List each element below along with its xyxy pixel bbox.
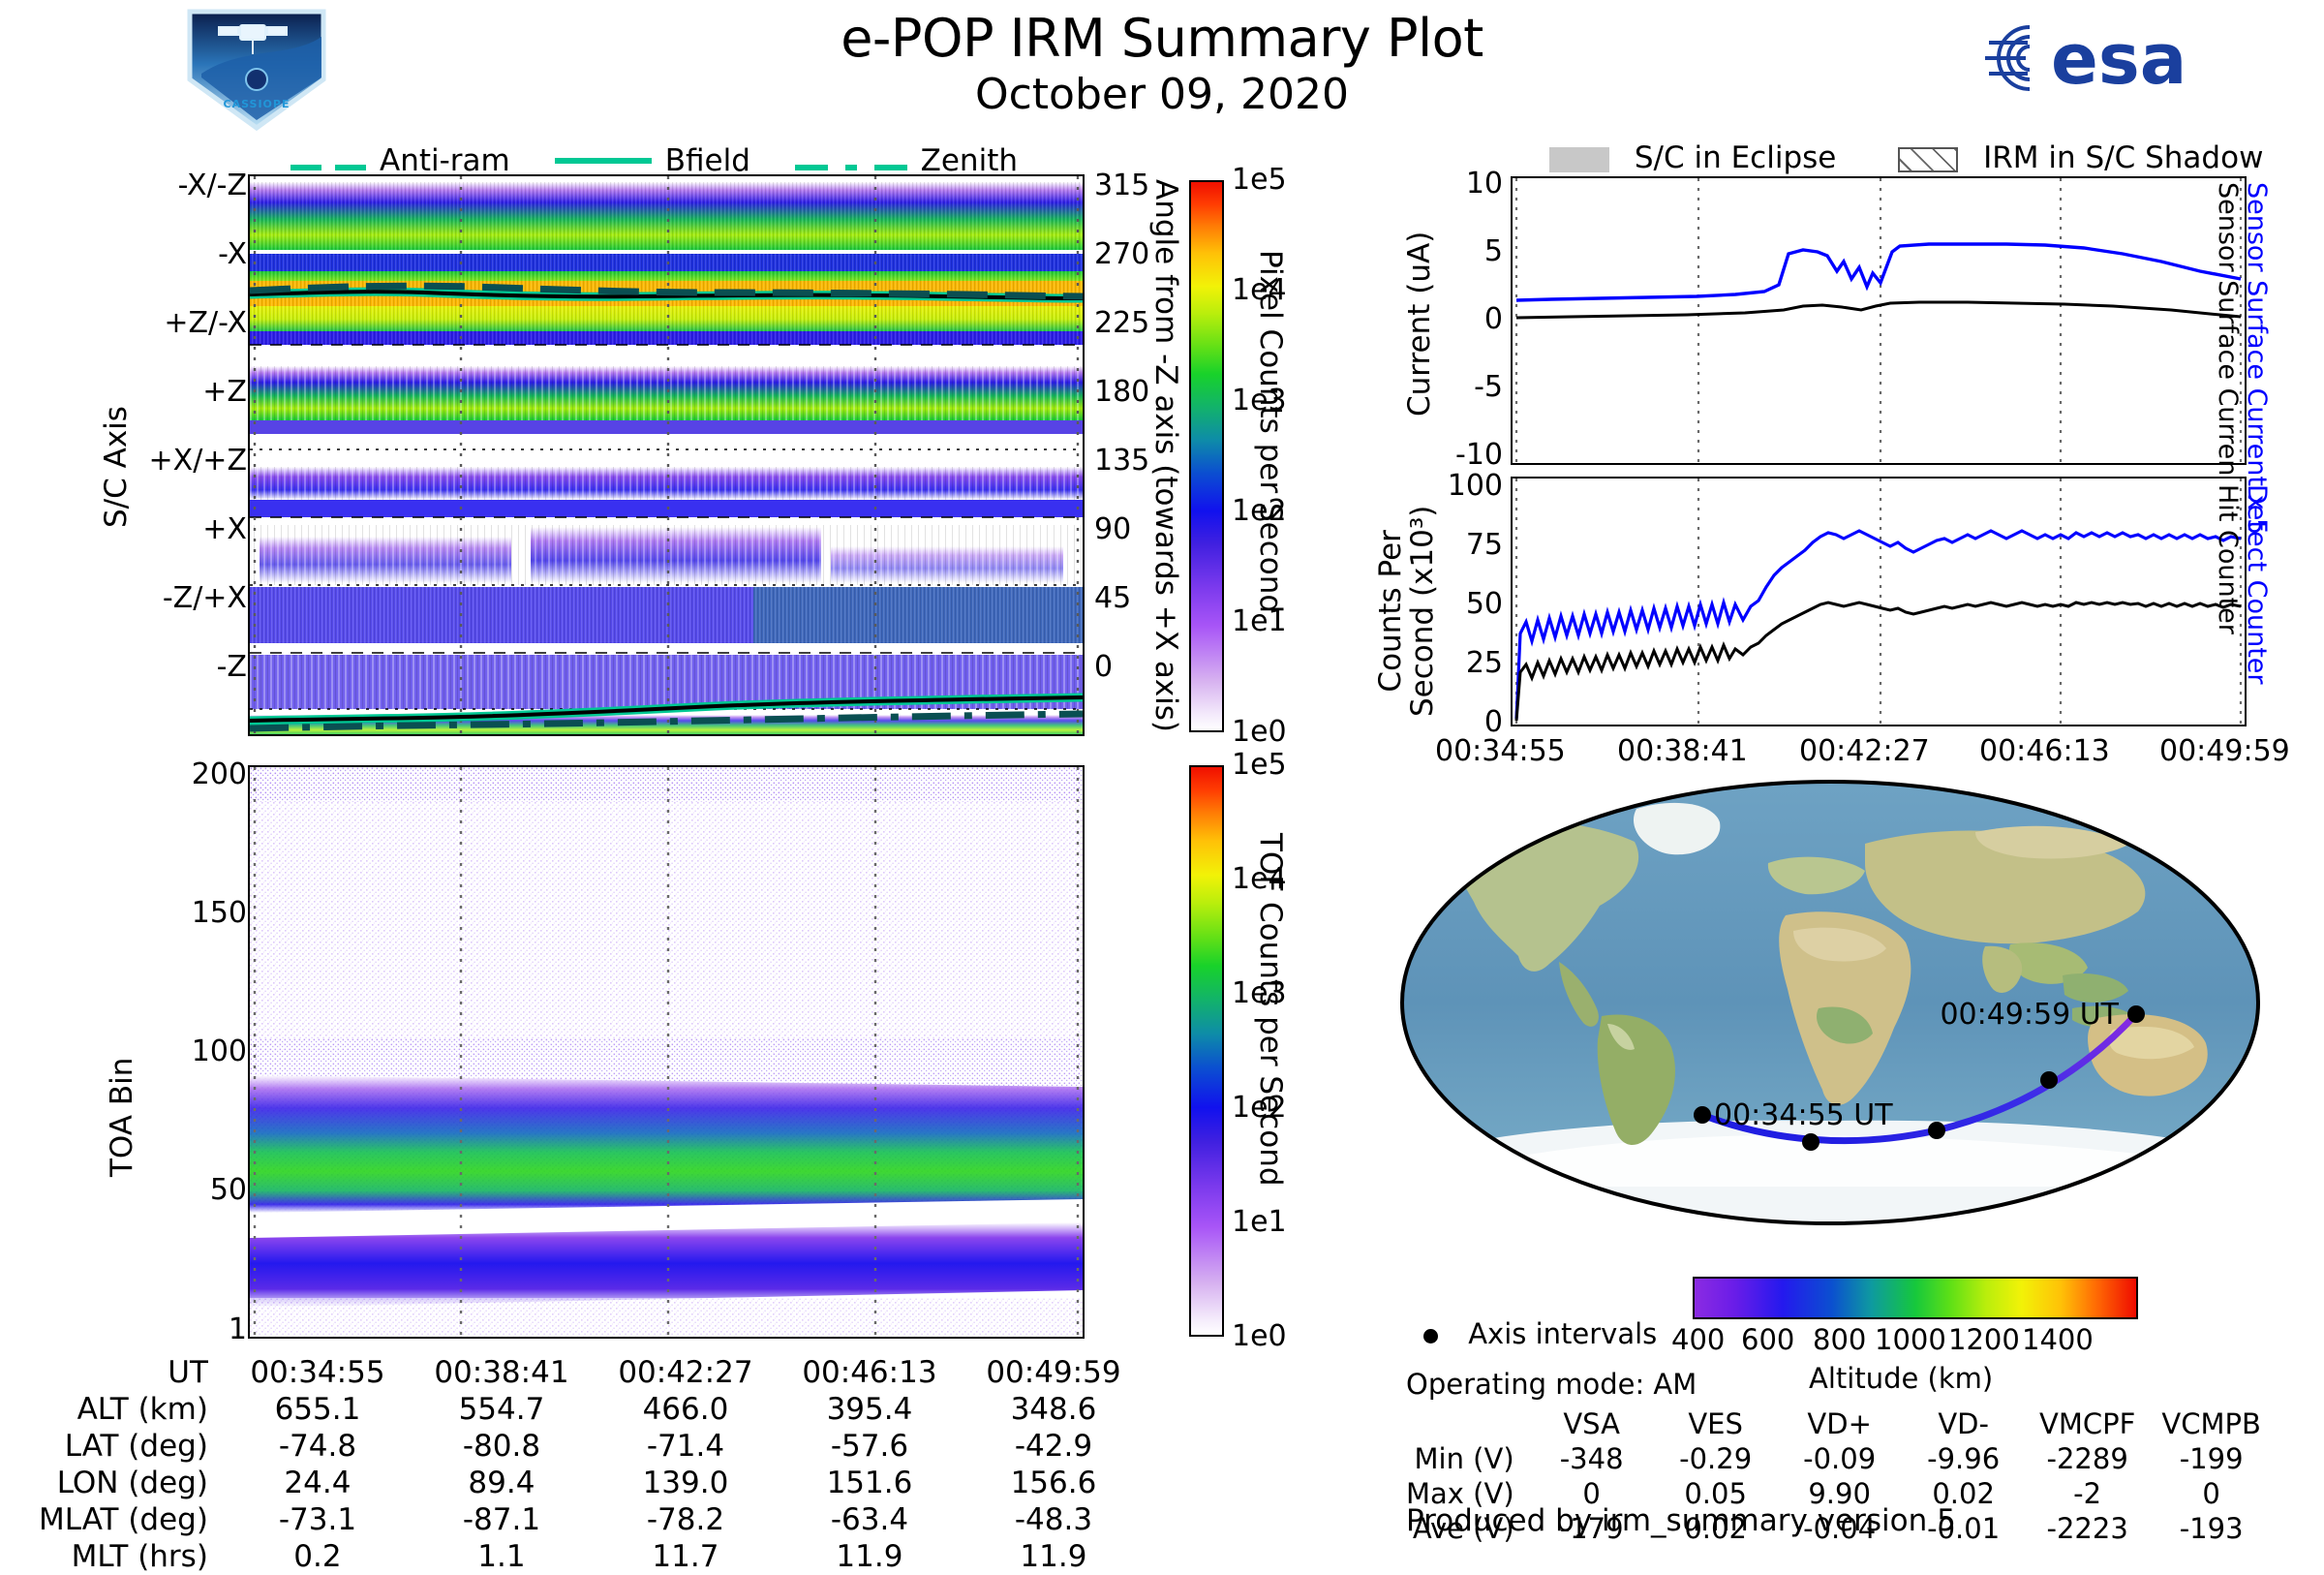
- lat-value-3: -57.6: [778, 1428, 962, 1465]
- esa-wordmark: esa: [2051, 18, 2186, 100]
- sc-axis-spectrogram[interactable]: [248, 174, 1085, 736]
- legend-bfield-swatch: [555, 158, 652, 164]
- cassiope-mission-patch-icon: CASSIOPE: [184, 8, 329, 132]
- sc-axis-angle-tick-0: 315: [1094, 169, 1149, 202]
- axis-interval-marker-icon: [1423, 1329, 1438, 1343]
- row-label-mlt: MLT (hrs): [39, 1538, 226, 1575]
- voltage-col-vdm: VD-: [1902, 1406, 2026, 1441]
- lon-value-0: 24.4: [226, 1465, 410, 1501]
- track-end-label: 00:49:59 UT: [1940, 998, 2119, 1032]
- counts-xtick-0: 00:34:55: [1435, 734, 1566, 768]
- irm-shadow-swatch: [1898, 147, 1958, 172]
- row-label-alt: ALT (km): [39, 1391, 226, 1428]
- tof-cbar-tick-4: 1e1: [1232, 1205, 1287, 1239]
- altitude-tick-1: 600: [1741, 1323, 1794, 1356]
- orbit-ground-track-map[interactable]: 00:34:55 UT 00:49:59 UT: [1394, 770, 2266, 1235]
- alt-value-4: 348.6: [962, 1391, 1146, 1428]
- sc-axis-ylabel: S/C Axis: [99, 406, 134, 528]
- tof-cbar-tick-5: 1e0: [1232, 1319, 1287, 1353]
- lon-value-3: 151.6: [778, 1465, 962, 1501]
- pixel-cbar-tick-0: 1e5: [1232, 163, 1287, 197]
- altitude-colorbar-ticks: 400 600 800 1000 1200 1400: [1693, 1323, 2138, 1362]
- current-ytick-group: 10 5 0 -5 -10: [1423, 184, 1503, 455]
- alt-value-2: 466.0: [594, 1391, 778, 1428]
- toa-ytick-4: 1: [229, 1312, 247, 1346]
- toa-ytick-group: 200 150 100 50 1: [145, 775, 247, 1337]
- toa-ytick-2: 100: [192, 1035, 247, 1068]
- sc-axis-angle-tick-2: 225: [1094, 306, 1149, 340]
- altitude-colorbar-label: Altitude (km): [1809, 1362, 1993, 1395]
- tof-counts-colorbar-label: TOF Counts per Second: [1253, 833, 1288, 1187]
- sc-axis-ytick-2: +Z/-X: [164, 306, 247, 340]
- mlat-value-1: -87.1: [410, 1501, 594, 1538]
- mlt-value-2: 11.7: [594, 1538, 778, 1575]
- legend-bfield-label: Bfield: [665, 143, 750, 178]
- current-ytick-3: -5: [1474, 370, 1503, 404]
- ave-vmcpf: -2223: [2026, 1511, 2150, 1546]
- axis-intervals-legend: Axis intervals: [1423, 1317, 1657, 1350]
- counts-ytick-3: 25: [1466, 646, 1503, 680]
- altitude-tick-2: 800: [1813, 1323, 1866, 1356]
- max-vmcpf: -2: [2026, 1476, 2150, 1511]
- mission-patch-text: CASSIOPE: [224, 98, 290, 110]
- counts-xtick-2: 00:42:27: [1799, 734, 1930, 768]
- lon-value-4: 156.6: [962, 1465, 1146, 1501]
- lat-value-2: -71.4: [594, 1428, 778, 1465]
- sc-axis-ytick-5: +X: [202, 512, 247, 546]
- sc-axis-ytick-3: +Z: [202, 375, 247, 409]
- counts-ylabel-line1: Counts Per: [1375, 506, 1407, 717]
- sc-axis-angle-tick-6: 45: [1094, 581, 1131, 615]
- counts-xtick-3: 00:46:13: [1979, 734, 2110, 768]
- counts-ytick-0: 100: [1448, 469, 1503, 503]
- altitude-tick-4: 1200: [1948, 1323, 2020, 1356]
- min-vsa: -348: [1530, 1441, 1654, 1476]
- lon-value-2: 139.0: [594, 1465, 778, 1501]
- voltage-corner-cell: [1406, 1406, 1530, 1441]
- ut-value-4: 00:49:59: [962, 1354, 1146, 1391]
- altitude-tick-0: 400: [1671, 1323, 1725, 1356]
- row-label-min: Min (V): [1406, 1441, 1530, 1476]
- legend-zenith-swatch: [795, 143, 907, 178]
- table-row: UT 00:34:55 00:38:41 00:42:27 00:46:13 0…: [39, 1354, 1146, 1391]
- sc-axis-ytick-6: -Z/+X: [163, 581, 247, 615]
- altitude-tick-5: 1400: [2022, 1323, 2094, 1356]
- table-row: ALT (km) 655.1 554.7 466.0 395.4 348.6: [39, 1391, 1146, 1428]
- lat-value-4: -42.9: [962, 1428, 1146, 1465]
- counts-xtick-4: 00:49:59: [2159, 734, 2290, 768]
- sc-axis-ytick-group: -X/-Z -X +Z/-X +Z +X/+Z +X -Z/+X -Z: [145, 184, 247, 726]
- current-ytick-2: 0: [1484, 302, 1503, 336]
- sensor-surface-current-plot[interactable]: [1511, 176, 2247, 465]
- counts-ytick-2: 50: [1466, 587, 1503, 621]
- mlt-value-3: 11.9: [778, 1538, 962, 1575]
- mlat-value-0: -73.1: [226, 1501, 410, 1538]
- toa-ytick-1: 150: [192, 896, 247, 930]
- esa-logo-icon: esa: [1975, 14, 2256, 103]
- track-start-label: 00:34:55 UT: [1714, 1098, 1893, 1132]
- ut-value-1: 00:38:41: [410, 1354, 594, 1391]
- ut-value-2: 00:42:27: [594, 1354, 778, 1391]
- sc-eclipse-label: S/C in Eclipse: [1635, 140, 1837, 175]
- table-row: LAT (deg) -74.8 -80.8 -71.4 -57.6 -42.9: [39, 1428, 1146, 1465]
- table-header-row: VSA VES VD+ VD- VMCPF VCMPB: [1406, 1406, 2274, 1441]
- legend-anti-ram-swatch: [290, 143, 366, 178]
- altitude-colorbar: [1693, 1277, 2138, 1319]
- sc-axis-angle-label: Angle from -Z axis (towards +X axis): [1148, 179, 1183, 732]
- toa-ytick-0: 200: [192, 757, 247, 791]
- row-label-ut: UT: [39, 1354, 226, 1391]
- counts-right-label-blue: Detect Counter: [2242, 484, 2272, 685]
- mlt-value-0: 0.2: [226, 1538, 410, 1575]
- table-row: MLT (hrs) 0.2 1.1 11.7 11.9 11.9: [39, 1538, 1146, 1575]
- ave-vcmpb: -193: [2150, 1511, 2274, 1546]
- operating-mode-text: Operating mode: AM: [1406, 1368, 1697, 1401]
- table-row: MLAT (deg) -73.1 -87.1 -78.2 -63.4 -48.3: [39, 1501, 1146, 1538]
- sc-axis-ytick-0: -X/-Z: [178, 169, 247, 202]
- min-vdp: -0.09: [1778, 1441, 1902, 1476]
- max-vcmpb: 0: [2150, 1476, 2274, 1511]
- alt-value-3: 395.4: [778, 1391, 962, 1428]
- toa-ylabel: TOA Bin: [105, 1058, 139, 1177]
- voltage-col-vsa: VSA: [1530, 1406, 1654, 1441]
- row-label-lon: LON (deg): [39, 1465, 226, 1501]
- counts-ytick-1: 75: [1466, 528, 1503, 562]
- eclipse-legend: S/C in Eclipse IRM in S/C Shadow: [1549, 140, 2263, 175]
- table-row: Min (V) -348 -0.29 -0.09 -9.96 -2289 -19…: [1406, 1441, 2274, 1476]
- current-right-label-black: Sensor Surface Current: [2213, 182, 2243, 486]
- voltage-col-vdp: VD+: [1778, 1406, 1902, 1441]
- pixel-cbar-tick-5: 1e0: [1232, 715, 1287, 749]
- counts-per-second-plot[interactable]: [1511, 477, 2247, 726]
- counts-xtick-1: 00:38:41: [1617, 734, 1748, 768]
- mlt-value-1: 1.1: [410, 1538, 594, 1575]
- alt-value-0: 655.1: [226, 1391, 410, 1428]
- sc-axis-angle-tick-7: 0: [1094, 650, 1113, 684]
- sc-axis-ytick-1: -X: [218, 237, 247, 271]
- row-label-lat: LAT (deg): [39, 1428, 226, 1465]
- mlat-value-3: -63.4: [778, 1501, 962, 1538]
- lat-value-0: -74.8: [226, 1428, 410, 1465]
- voltage-col-vmcpf: VMCPF: [2026, 1406, 2150, 1441]
- produced-by-text: Produced by irm_summary version 5: [1406, 1503, 1956, 1538]
- voltage-col-ves: VES: [1654, 1406, 1778, 1441]
- mlt-value-4: 11.9: [962, 1538, 1146, 1575]
- pixel-counts-colorbar-label: Pixel Counts per Second: [1253, 250, 1288, 613]
- min-vmcpf: -2289: [2026, 1441, 2150, 1476]
- irm-shadow-label: IRM in S/C Shadow: [1983, 140, 2263, 175]
- alt-value-1: 554.7: [410, 1391, 594, 1428]
- table-row: LON (deg) 24.4 89.4 139.0 151.6 156.6: [39, 1465, 1146, 1501]
- tof-cbar-tick-0: 1e5: [1232, 748, 1287, 782]
- min-vdm: -9.96: [1902, 1441, 2026, 1476]
- tof-counts-colorbar: [1189, 765, 1224, 1337]
- row-label-mlat: MLAT (deg): [39, 1501, 226, 1538]
- voltage-col-vcmpb: VCMPB: [2150, 1406, 2274, 1441]
- sc-axis-angle-tick-5: 90: [1094, 512, 1131, 546]
- spectrogram-legend: Anti-ram Bfield Zenith: [290, 143, 1062, 178]
- min-vcmpb: -199: [2150, 1441, 2274, 1476]
- current-ytick-1: 5: [1484, 234, 1503, 268]
- legend-zenith-label: Zenith: [921, 143, 1018, 178]
- min-ves: -0.29: [1654, 1441, 1778, 1476]
- sc-axis-angle-tick-4: 135: [1094, 444, 1149, 478]
- sc-eclipse-swatch: [1549, 147, 1609, 172]
- ut-value-0: 00:34:55: [226, 1354, 410, 1391]
- counts-ytick-group: 100 75 50 25 0: [1423, 484, 1503, 717]
- ephemeris-table: UT 00:34:55 00:38:41 00:42:27 00:46:13 0…: [39, 1354, 1146, 1575]
- pixel-counts-colorbar: [1189, 180, 1224, 732]
- sc-axis-angle-tick-3: 180: [1094, 375, 1149, 409]
- current-ytick-0: 10: [1466, 167, 1503, 201]
- summary-plot-page: e-POP IRM Summary Plot October 09, 2020 …: [0, 0, 2324, 1550]
- legend-anti-ram-label: Anti-ram: [380, 143, 510, 178]
- axis-intervals-label: Axis intervals: [1468, 1317, 1657, 1350]
- current-ytick-4: -10: [1455, 438, 1503, 472]
- sc-axis-angle-tick-1: 270: [1094, 237, 1149, 271]
- sc-axis-ytick-4: +X/+Z: [149, 444, 247, 478]
- toa-bin-spectrogram[interactable]: [248, 765, 1085, 1339]
- lon-value-1: 89.4: [410, 1465, 594, 1501]
- toa-ytick-3: 50: [210, 1173, 247, 1207]
- lat-value-1: -80.8: [410, 1428, 594, 1465]
- counts-right-label-black: Hit Counter: [2213, 484, 2243, 634]
- ut-value-3: 00:46:13: [778, 1354, 962, 1391]
- mlat-value-4: -48.3: [962, 1501, 1146, 1538]
- mlat-value-2: -78.2: [594, 1501, 778, 1538]
- altitude-tick-3: 1000: [1875, 1323, 1946, 1356]
- sc-axis-ytick-7: -Z: [217, 650, 247, 684]
